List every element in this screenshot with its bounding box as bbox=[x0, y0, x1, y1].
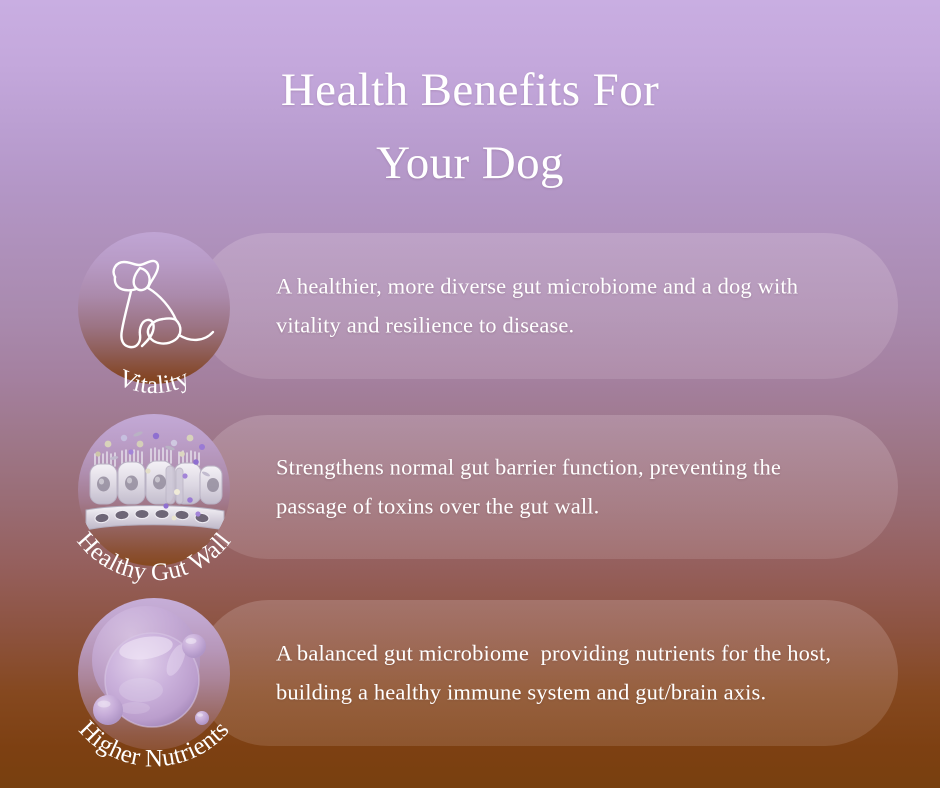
benefit-description: A balanced gut microbiome providing nutr… bbox=[276, 634, 852, 711]
gut-epithelium-icon bbox=[78, 414, 230, 566]
benefit-description: Strengthens normal gut barrier function,… bbox=[276, 448, 852, 525]
benefit-icon-healthy-gut-wall: Healthy Gut Wall bbox=[78, 414, 230, 566]
benefit-card-healthy-gut-wall: Strengthens normal gut barrier function,… bbox=[196, 415, 898, 559]
title-line-2: Your Dog bbox=[0, 127, 940, 200]
benefit-card-higher-nutrients: A balanced gut microbiome providing nutr… bbox=[196, 600, 898, 746]
icon-circle bbox=[78, 232, 230, 384]
page-title: Health Benefits For Your Dog bbox=[0, 54, 940, 201]
icon-circle bbox=[78, 598, 230, 750]
sitting-dog-line-icon bbox=[78, 232, 230, 384]
benefit-description: A healthier, more diverse gut microbiome… bbox=[276, 267, 852, 344]
nutrient-bubbles-icon bbox=[78, 598, 230, 750]
benefit-icon-vitality: Vitality bbox=[78, 232, 230, 384]
benefit-icon-higher-nutrients: Higher Nutrients bbox=[78, 598, 230, 750]
title-line-1: Health Benefits For bbox=[0, 54, 940, 127]
icon-circle bbox=[78, 414, 230, 566]
benefit-card-vitality: A healthier, more diverse gut microbiome… bbox=[196, 233, 898, 379]
